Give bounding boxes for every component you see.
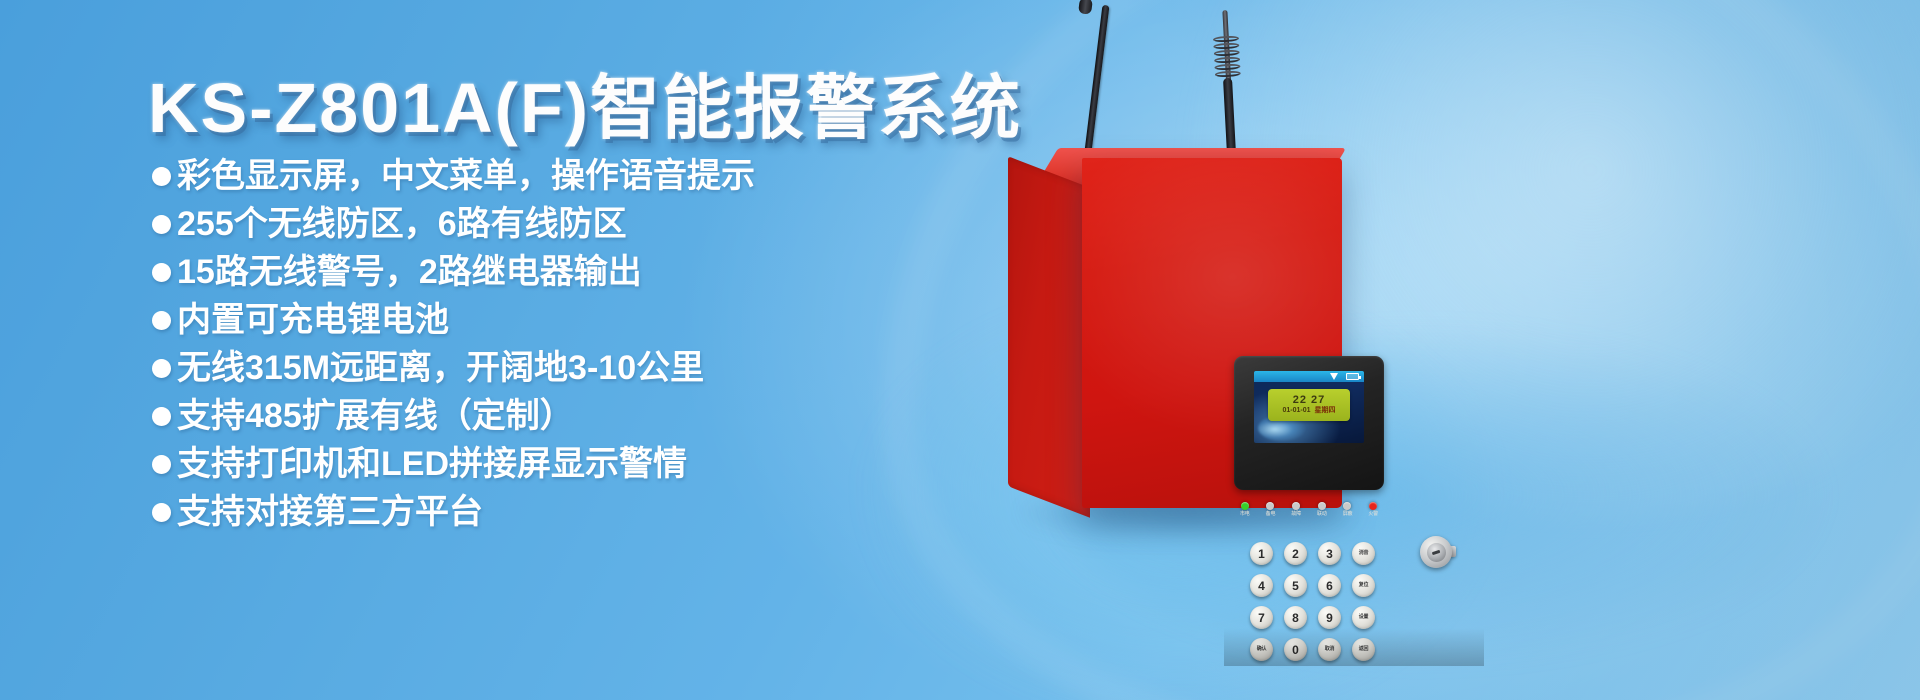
led-indicator-row: 市电 备电 故障 联动 屏蔽 火警: [1240, 502, 1378, 517]
led-indicator: 故障: [1291, 502, 1301, 517]
battery-icon: [1346, 373, 1359, 380]
lcd-weekday: 星期四: [1315, 407, 1336, 415]
led-indicator: 屏蔽: [1343, 502, 1353, 517]
led-label: 备电: [1266, 512, 1276, 517]
lcd-time: 22 27: [1293, 395, 1326, 407]
bullet-icon: [152, 407, 171, 426]
led-label: 联动: [1317, 512, 1327, 517]
led-dot-icon: [1292, 502, 1300, 510]
signal-icon: [1330, 373, 1338, 380]
feature-label: 15路无线警号，2路继电器输出: [177, 255, 642, 289]
display-bezel: 22 27 01-01-01 星期四: [1234, 356, 1384, 490]
lcd-date-row: 01-01-01 星期四: [1282, 407, 1335, 415]
lcd-status-bar: [1254, 371, 1364, 382]
key-confirm[interactable]: 确认: [1250, 638, 1273, 661]
led-dot-icon: [1241, 502, 1249, 510]
lcd-screen[interactable]: 22 27 01-01-01 星期四: [1254, 371, 1364, 443]
key-1[interactable]: 1: [1250, 542, 1273, 565]
bullet-icon: [152, 503, 171, 522]
led-dot-icon: [1266, 502, 1274, 510]
lock-keyhole-icon: [1432, 550, 1440, 555]
bullet-icon: [152, 167, 171, 186]
key-0[interactable]: 0: [1284, 638, 1307, 661]
feature-item: 无线315M远距离，开阔地3-10公里: [152, 344, 755, 392]
enclosure-left-face: [1008, 156, 1090, 517]
feature-item: 支持485扩展有线（定制）: [152, 392, 755, 440]
feature-item: 255个无线防区，6路有线防区: [152, 200, 755, 248]
keypad[interactable]: 1 2 3 消音 4 5 6 复位 7 8 9 设置 确认 0 取消 返回: [1250, 542, 1378, 662]
key-setup[interactable]: 设置: [1352, 606, 1375, 629]
antenna-left-tip-icon: [1078, 0, 1093, 15]
feature-label: 彩色显示屏，中文菜单，操作语音提示: [177, 159, 755, 193]
feature-item: 支持打印机和LED拼接屏显示警情: [152, 440, 755, 488]
led-label: 市电: [1240, 512, 1250, 517]
bullet-icon: [152, 359, 171, 378]
key-9[interactable]: 9: [1318, 606, 1341, 629]
product-photo: 22 27 01-01-01 星期四 市电 备电 故障: [940, 0, 1920, 700]
key-cancel[interactable]: 取消: [1318, 638, 1341, 661]
feature-item: 支持对接第三方平台: [152, 488, 755, 536]
antenna-coil-icon: [1213, 35, 1241, 80]
key-reset[interactable]: 复位: [1352, 574, 1375, 597]
feature-label: 支持485扩展有线（定制）: [177, 399, 574, 433]
antenna-left-icon: [1083, 5, 1109, 165]
lcd-clock-widget: 22 27 01-01-01 星期四: [1268, 389, 1350, 421]
led-indicator: 火警: [1368, 502, 1378, 517]
led-label: 火警: [1368, 512, 1378, 517]
feature-list: 彩色显示屏，中文菜单，操作语音提示 255个无线防区，6路有线防区 15路无线警…: [152, 152, 755, 536]
lock-cylinder: [1427, 543, 1446, 562]
feature-label: 无线315M远距离，开阔地3-10公里: [177, 351, 704, 385]
key-back[interactable]: 返回: [1352, 638, 1375, 661]
feature-label: 内置可充电锂电池: [177, 303, 449, 337]
key-8[interactable]: 8: [1284, 606, 1307, 629]
key-7[interactable]: 7: [1250, 606, 1273, 629]
led-indicator: 市电: [1240, 502, 1250, 517]
feature-item: 15路无线警号，2路继电器输出: [152, 248, 755, 296]
lcd-date: 01-01-01: [1282, 407, 1310, 415]
led-indicator: 联动: [1317, 502, 1327, 517]
bullet-icon: [152, 263, 171, 282]
feature-item: 内置可充电锂电池: [152, 296, 755, 344]
led-dot-icon: [1318, 502, 1326, 510]
key-lock-icon[interactable]: [1420, 536, 1452, 568]
key-5[interactable]: 5: [1284, 574, 1307, 597]
led-dot-icon: [1343, 502, 1351, 510]
led-indicator: 备电: [1266, 502, 1276, 517]
key-6[interactable]: 6: [1318, 574, 1341, 597]
key-2[interactable]: 2: [1284, 542, 1307, 565]
bullet-icon: [152, 215, 171, 234]
feature-label: 255个无线防区，6路有线防区: [177, 207, 627, 241]
led-label: 故障: [1291, 512, 1301, 517]
key-4[interactable]: 4: [1250, 574, 1273, 597]
feature-label: 支持对接第三方平台: [177, 495, 483, 529]
product-title: KS-Z801A(F)智能报警系统: [148, 52, 1022, 153]
banner-text-panel: KS-Z801A(F)智能报警系统 彩色显示屏，中文菜单，操作语音提示 255个…: [0, 0, 960, 700]
bullet-icon: [152, 455, 171, 474]
bullet-icon: [152, 311, 171, 330]
feature-item: 彩色显示屏，中文菜单，操作语音提示: [152, 152, 755, 200]
led-label: 屏蔽: [1343, 512, 1353, 517]
led-dot-icon: [1369, 502, 1377, 510]
enclosure-front-panel: 22 27 01-01-01 星期四 市电 备电 故障: [1082, 158, 1342, 508]
key-mute[interactable]: 消音: [1352, 542, 1375, 565]
feature-label: 支持打印机和LED拼接屏显示警情: [177, 447, 687, 481]
key-3[interactable]: 3: [1318, 542, 1341, 565]
